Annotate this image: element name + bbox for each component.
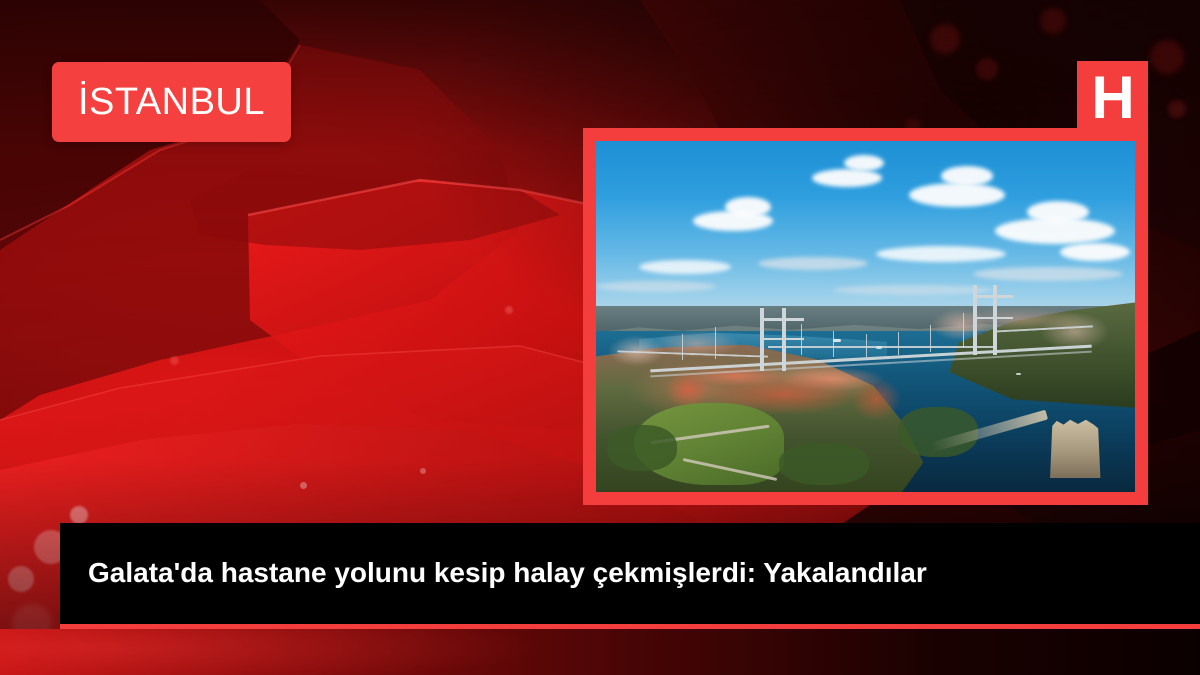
- photo-boat: [1016, 373, 1021, 375]
- city-badge-label: İSTANBUL: [78, 81, 265, 124]
- haber-logo[interactable]: H: [1077, 61, 1148, 135]
- page-title: Galata'da hastane yolunu kesip halay çek…: [60, 555, 927, 592]
- city-badge: İSTANBUL: [52, 62, 291, 142]
- photo-fortress-tower: [1047, 416, 1103, 478]
- footer-strip: [0, 629, 1200, 675]
- headline-bar: Galata'da hastane yolunu kesip halay çek…: [60, 523, 1200, 624]
- photo-trees: [607, 425, 677, 471]
- photo-boat: [833, 339, 841, 342]
- article-photo-frame: [583, 128, 1148, 505]
- logo-letter: H: [1091, 68, 1133, 128]
- photo-trees: [779, 443, 869, 485]
- article-photo: [596, 141, 1135, 492]
- news-card: İSTANBUL: [0, 0, 1200, 675]
